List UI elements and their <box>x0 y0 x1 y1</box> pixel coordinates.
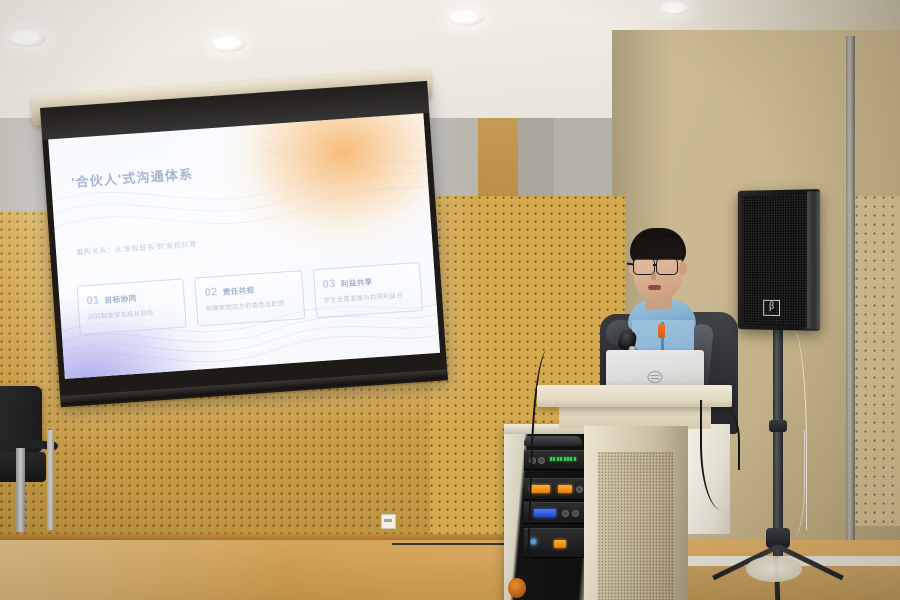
led-indicator <box>570 457 572 461</box>
eyebrow <box>635 255 651 257</box>
eyeglasses-bridge <box>653 264 657 266</box>
mouth <box>648 285 661 290</box>
rack-knob[interactable] <box>562 510 569 517</box>
slide-card-description: 明确家校双方的角色与职责 <box>206 300 296 314</box>
office-chair-leg <box>16 448 25 532</box>
slide-content: '合伙人'式沟通体系 重构关系：从'家校联系'到'家校共育' 01 目标协同 共… <box>48 113 440 379</box>
slide-card-title: 利益共享 <box>340 276 373 289</box>
downlight-icon <box>8 30 46 47</box>
eyeglasses-temple <box>627 262 634 265</box>
ear <box>679 262 687 275</box>
office-chair-leg <box>47 430 54 530</box>
rack-caster-wheel <box>508 578 526 598</box>
presentation-room-photo: '合伙人'式沟通体系 重构关系：从'家校联系'到'家校共育' 01 目标协同 共… <box>0 0 900 600</box>
projection-screen: '合伙人'式沟通体系 重构关系：从'家校联系'到'家校共育' 01 目标协同 共… <box>40 81 448 407</box>
slide-card-number: 02 <box>204 286 218 299</box>
slide-card: 03 利益共享 学生全面发展为共同利益点 <box>313 262 423 318</box>
slide-canvas: '合伙人'式沟通体系 重构关系：从'家校联系'到'家校共育' 01 目标协同 共… <box>48 113 440 379</box>
podium-cable <box>712 410 740 470</box>
rack-knob[interactable] <box>576 486 583 493</box>
led-indicator <box>564 457 566 461</box>
slide-title: '合伙人'式沟通体系 <box>71 164 194 191</box>
speaker-wire <box>778 430 805 540</box>
hp-laptop[interactable] <box>606 350 704 390</box>
slide-card-number: 03 <box>322 278 336 291</box>
slide-card-header: 01 目标协同 <box>86 289 176 307</box>
slide-card-list: 01 目标协同 共同制定学生成长目标 02 责任共担 明确家校双方的角色与职责 <box>76 262 423 335</box>
downlight-icon <box>210 36 246 52</box>
speaker-brand-logo: β <box>763 300 780 316</box>
zipper-pull <box>658 324 665 338</box>
hp-logo-icon <box>648 371 663 383</box>
pa-loudspeaker: β <box>738 189 820 331</box>
acoustic-panel-right <box>855 196 900 526</box>
led-indicator <box>567 457 569 461</box>
led-indicator <box>574 457 576 461</box>
speaker-side-panel <box>807 191 820 329</box>
slide-subtitle: 重构关系：从'家校联系'到'家校共育' <box>76 239 199 258</box>
coiled-cable <box>746 556 802 582</box>
slide-card: 02 责任共担 明确家校双方的角色与职责 <box>195 270 305 326</box>
eyeglasses-lens <box>656 258 678 275</box>
slide-card-header: 02 责任共担 <box>204 281 294 299</box>
wall-corner-reveal <box>846 36 855 556</box>
slide-card-description: 学生全面发展为共同利益点 <box>324 291 414 305</box>
slide-card-title: 目标协同 <box>104 293 137 306</box>
lectern-shading <box>584 426 688 600</box>
slide-card: 01 目标协同 共同制定学生成长目标 <box>76 278 186 334</box>
floor-reflection <box>0 540 520 600</box>
rack-knob[interactable] <box>572 510 579 517</box>
slide-card-description: 共同制定学生成长目标 <box>87 308 177 322</box>
slide-card-number: 01 <box>86 294 100 307</box>
eyebrow <box>658 255 674 257</box>
downlight-icon <box>660 2 690 15</box>
slide-card-header: 03 利益共享 <box>322 272 412 290</box>
nose <box>651 272 656 280</box>
slide-card-title: 责任共担 <box>222 284 255 297</box>
downlight-icon <box>448 10 484 26</box>
